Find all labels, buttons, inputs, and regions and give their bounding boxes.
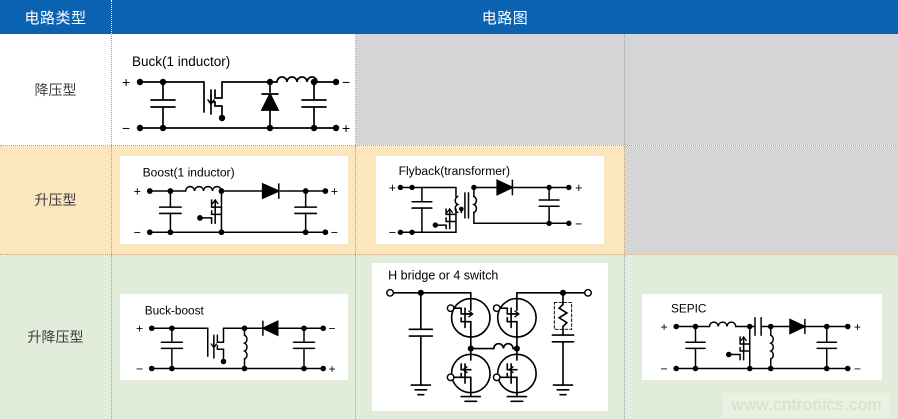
diagram-panel-flyback: Flyback(transformer) + − + − [376,156,604,244]
polarity-in-plus: + [660,320,667,334]
diagram-title-boost: Boost(1 inductor) [142,166,234,180]
diagram-title-sepic: SEPIC [671,302,707,316]
row-label-buck: 降压型 [0,34,112,145]
header-cell-circuit-type: 电路类型 [0,0,112,34]
cell-empty-r1c3 [625,34,898,145]
cell-boost-diagram: Boost(1 inductor) + − + − [112,146,356,254]
polarity-in-minus: − [660,362,667,376]
header-cell-circuit-diagram: 电路图 [112,0,898,34]
polarity-out-minus: − [853,362,860,376]
hbridge-circuit-svg: H bridge or 4 switch [374,264,606,410]
table-header-row: 电路类型 电路图 [0,0,898,34]
table-row: 升压型 [0,146,898,255]
buckboost-circuit-svg: Buck-boost + − − + [122,295,346,379]
diagram-panel-buckboost: Buck-boost + − − + [120,294,348,380]
row-label-buck-boost: 升降压型 [0,255,112,419]
polarity-in-minus: − [389,226,396,240]
polarity-in-plus: + [122,74,130,90]
polarity-out-minus: − [328,322,335,336]
sepic-circuit-svg: SEPIC + − + − [647,295,877,379]
buck-circuit-svg: Buck(1 inductor) + − − + [118,40,350,140]
polarity-out-plus: + [342,120,350,136]
polarity-out-minus: − [575,217,582,231]
polarity-in-plus: + [133,185,140,199]
polarity-in-minus: − [136,362,143,376]
cell-hbridge-diagram: H bridge or 4 switch [356,255,625,419]
polarity-in-minus: − [122,120,130,136]
diagram-panel-buck: Buck(1 inductor) + − − + [112,34,355,145]
row-label-boost: 升压型 [0,146,112,254]
diagram-panel-hbridge: H bridge or 4 switch [372,263,608,411]
table-row: 升降压型 [0,255,898,419]
circuit-topology-table: 电路类型 电路图 降压型 [0,0,898,419]
cell-sepic-diagram: SEPIC + − + − www.cntronics.com [625,255,898,419]
diagram-panel-boost: Boost(1 inductor) + − + − [120,156,348,244]
diagram-title-flyback: Flyback(transformer) [399,164,510,178]
diagram-title-buckboost: Buck-boost [144,303,204,317]
cell-flyback-diagram: Flyback(transformer) + − + − [356,146,625,254]
polarity-out-plus: + [853,320,860,334]
cell-buck-diagram: Buck(1 inductor) + − − + [112,34,356,145]
cell-empty-r1c2 [356,34,625,145]
cell-empty-r2c3 [625,146,898,254]
polarity-in-plus: + [389,181,396,195]
polarity-out-plus: + [575,181,582,195]
table-row: 降压型 [0,34,898,146]
boost-circuit-svg: Boost(1 inductor) + − + − [122,157,346,243]
diagram-panel-sepic: SEPIC + − + − [642,294,882,380]
polarity-in-minus: − [133,226,140,240]
polarity-out-plus: + [328,362,335,376]
diagram-title-hbridge: H bridge or 4 switch [388,268,498,282]
cell-buckboost-diagram: Buck-boost + − − + [112,255,356,419]
flyback-circuit-svg: Flyback(transformer) + − + − [378,157,602,243]
diagram-title-buck: Buck(1 inductor) [132,54,230,69]
polarity-in-plus: + [136,322,143,336]
polarity-out-plus: + [330,185,337,199]
watermark: www.cntronics.com [723,393,890,417]
polarity-out-minus: − [342,74,350,90]
polarity-out-minus: − [330,226,337,240]
